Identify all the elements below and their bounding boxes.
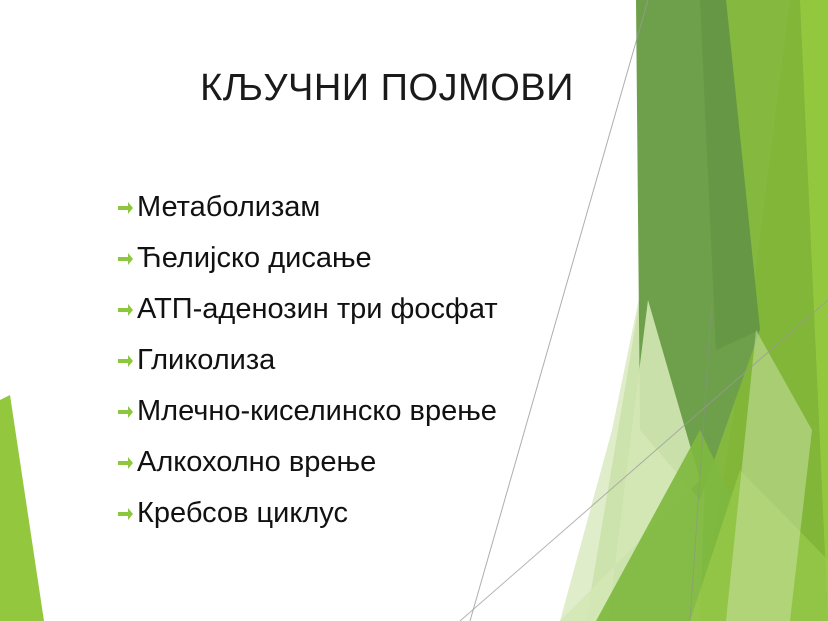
list-item-label: Ћелијско дисање (137, 244, 372, 273)
list-item: Метаболизам (118, 182, 638, 233)
list-item-label: АТП-аденозин три фосфат (137, 295, 498, 324)
key-terms-list: Метаболизам Ћелијско дисање АТП-аденозин… (118, 182, 638, 539)
list-item-label: Алкохолно врење (137, 448, 376, 477)
triangle-right-icon (118, 193, 136, 222)
triangle-right-icon (118, 346, 136, 375)
list-item-label: Млечно-киселинско врење (137, 397, 497, 426)
triangle-right-icon (118, 448, 136, 477)
list-item: Гликолиза (118, 335, 638, 386)
triangle-right-icon (118, 499, 136, 528)
list-item: Ћелијско дисање (118, 233, 638, 284)
presentation-slide: КЉУЧНИ ПОЈМОВИ Метаболизам Ћелијско диса… (0, 0, 828, 621)
triangle-right-icon (118, 244, 136, 273)
list-item: Млечно-киселинско врење (118, 386, 638, 437)
triangle-right-icon (118, 397, 136, 426)
list-item: Кребсов циклус (118, 488, 638, 539)
triangle-right-icon (118, 295, 136, 324)
list-item-label: Кребсов циклус (137, 499, 348, 528)
list-item: АТП-аденозин три фосфат (118, 284, 638, 335)
list-item-label: Гликолиза (137, 346, 275, 375)
list-item: Алкохолно врење (118, 437, 638, 488)
list-item-label: Метаболизам (137, 193, 320, 222)
page-title: КЉУЧНИ ПОЈМОВИ (60, 66, 714, 112)
